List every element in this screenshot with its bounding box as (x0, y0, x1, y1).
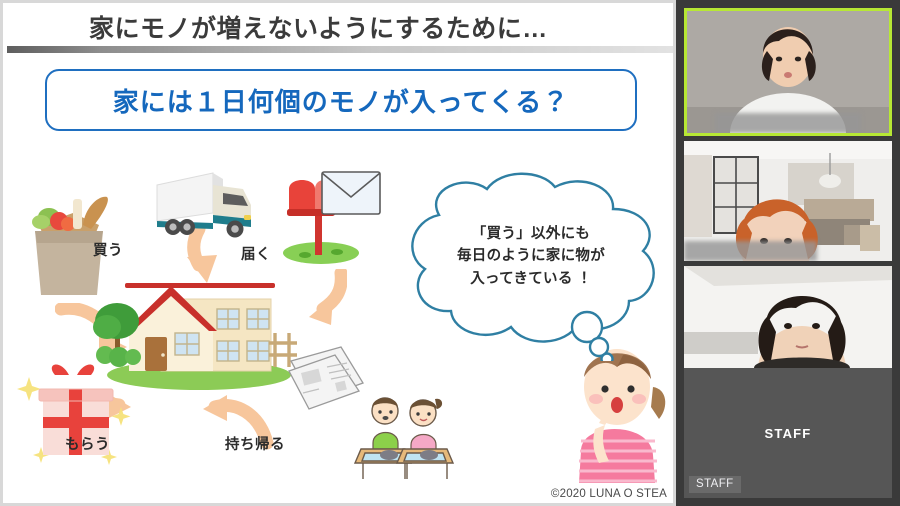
delivery-truck-illustration (151, 165, 269, 245)
title-divider (7, 46, 673, 53)
participant-video-panel: STAFF STAFF (676, 0, 900, 506)
arrow-mail-to-house (295, 269, 347, 334)
webinar-screen: 家にモノが増えないようにするために… 家には１日何個のモノが入ってくる？ (0, 0, 900, 506)
bubble-line-3: 入ってきている ！ (391, 268, 671, 290)
label-buy: 買う (93, 239, 123, 260)
page-title: 家にモノが増えないようにするために… (89, 9, 548, 45)
video-feed-1 (687, 11, 889, 133)
label-deliver: 届く (241, 243, 271, 264)
video-tile-participant-1[interactable] (684, 8, 892, 136)
bubble-line-2: 毎日のように家に物が (391, 245, 671, 267)
diagram-stage: 「買う」以外にも 毎日のように家に物が 入ってきている ！ 買う 届く もらう … (3, 143, 673, 503)
staff-center-label: STAFF (684, 426, 892, 441)
blur-strip-2 (684, 241, 817, 261)
video-tile-participant-3[interactable]: STAFF STAFF (684, 266, 892, 498)
students-at-desks-illustration (351, 385, 461, 481)
shared-slide: 家にモノが増えないようにするために… 家には１日何個のモノが入ってくる？ (0, 0, 676, 506)
question-box-text: 家には１日何個のモノが入ってくる？ (113, 82, 569, 119)
slide-canvas: 家にモノが増えないようにするために… 家には１日何個のモノが入ってくる？ (3, 3, 673, 503)
question-box: 家には１日何個のモノが入ってくる？ (45, 69, 637, 131)
label-receive: もらう (65, 433, 110, 454)
video-tile-participant-2[interactable] (684, 141, 892, 261)
bubble-line-1: 「買う」以外にも (391, 223, 671, 245)
video-feed-2 (684, 141, 892, 261)
thought-bubble: 「買う」以外にも 毎日のように家に物が 入ってきている ！ (391, 171, 671, 361)
thought-bubble-text: 「買う」以外にも 毎日のように家に物が 入ってきている ！ (391, 223, 671, 290)
envelope-illustration (321, 171, 381, 215)
copyright-notice: ©2020 LUNA O STEA (551, 488, 667, 500)
label-bring-home: 持ち帰る (225, 433, 285, 454)
blur-strip-1 (715, 113, 860, 133)
video-feed-3 (684, 266, 892, 368)
staff-name-badge: STAFF (689, 476, 741, 493)
